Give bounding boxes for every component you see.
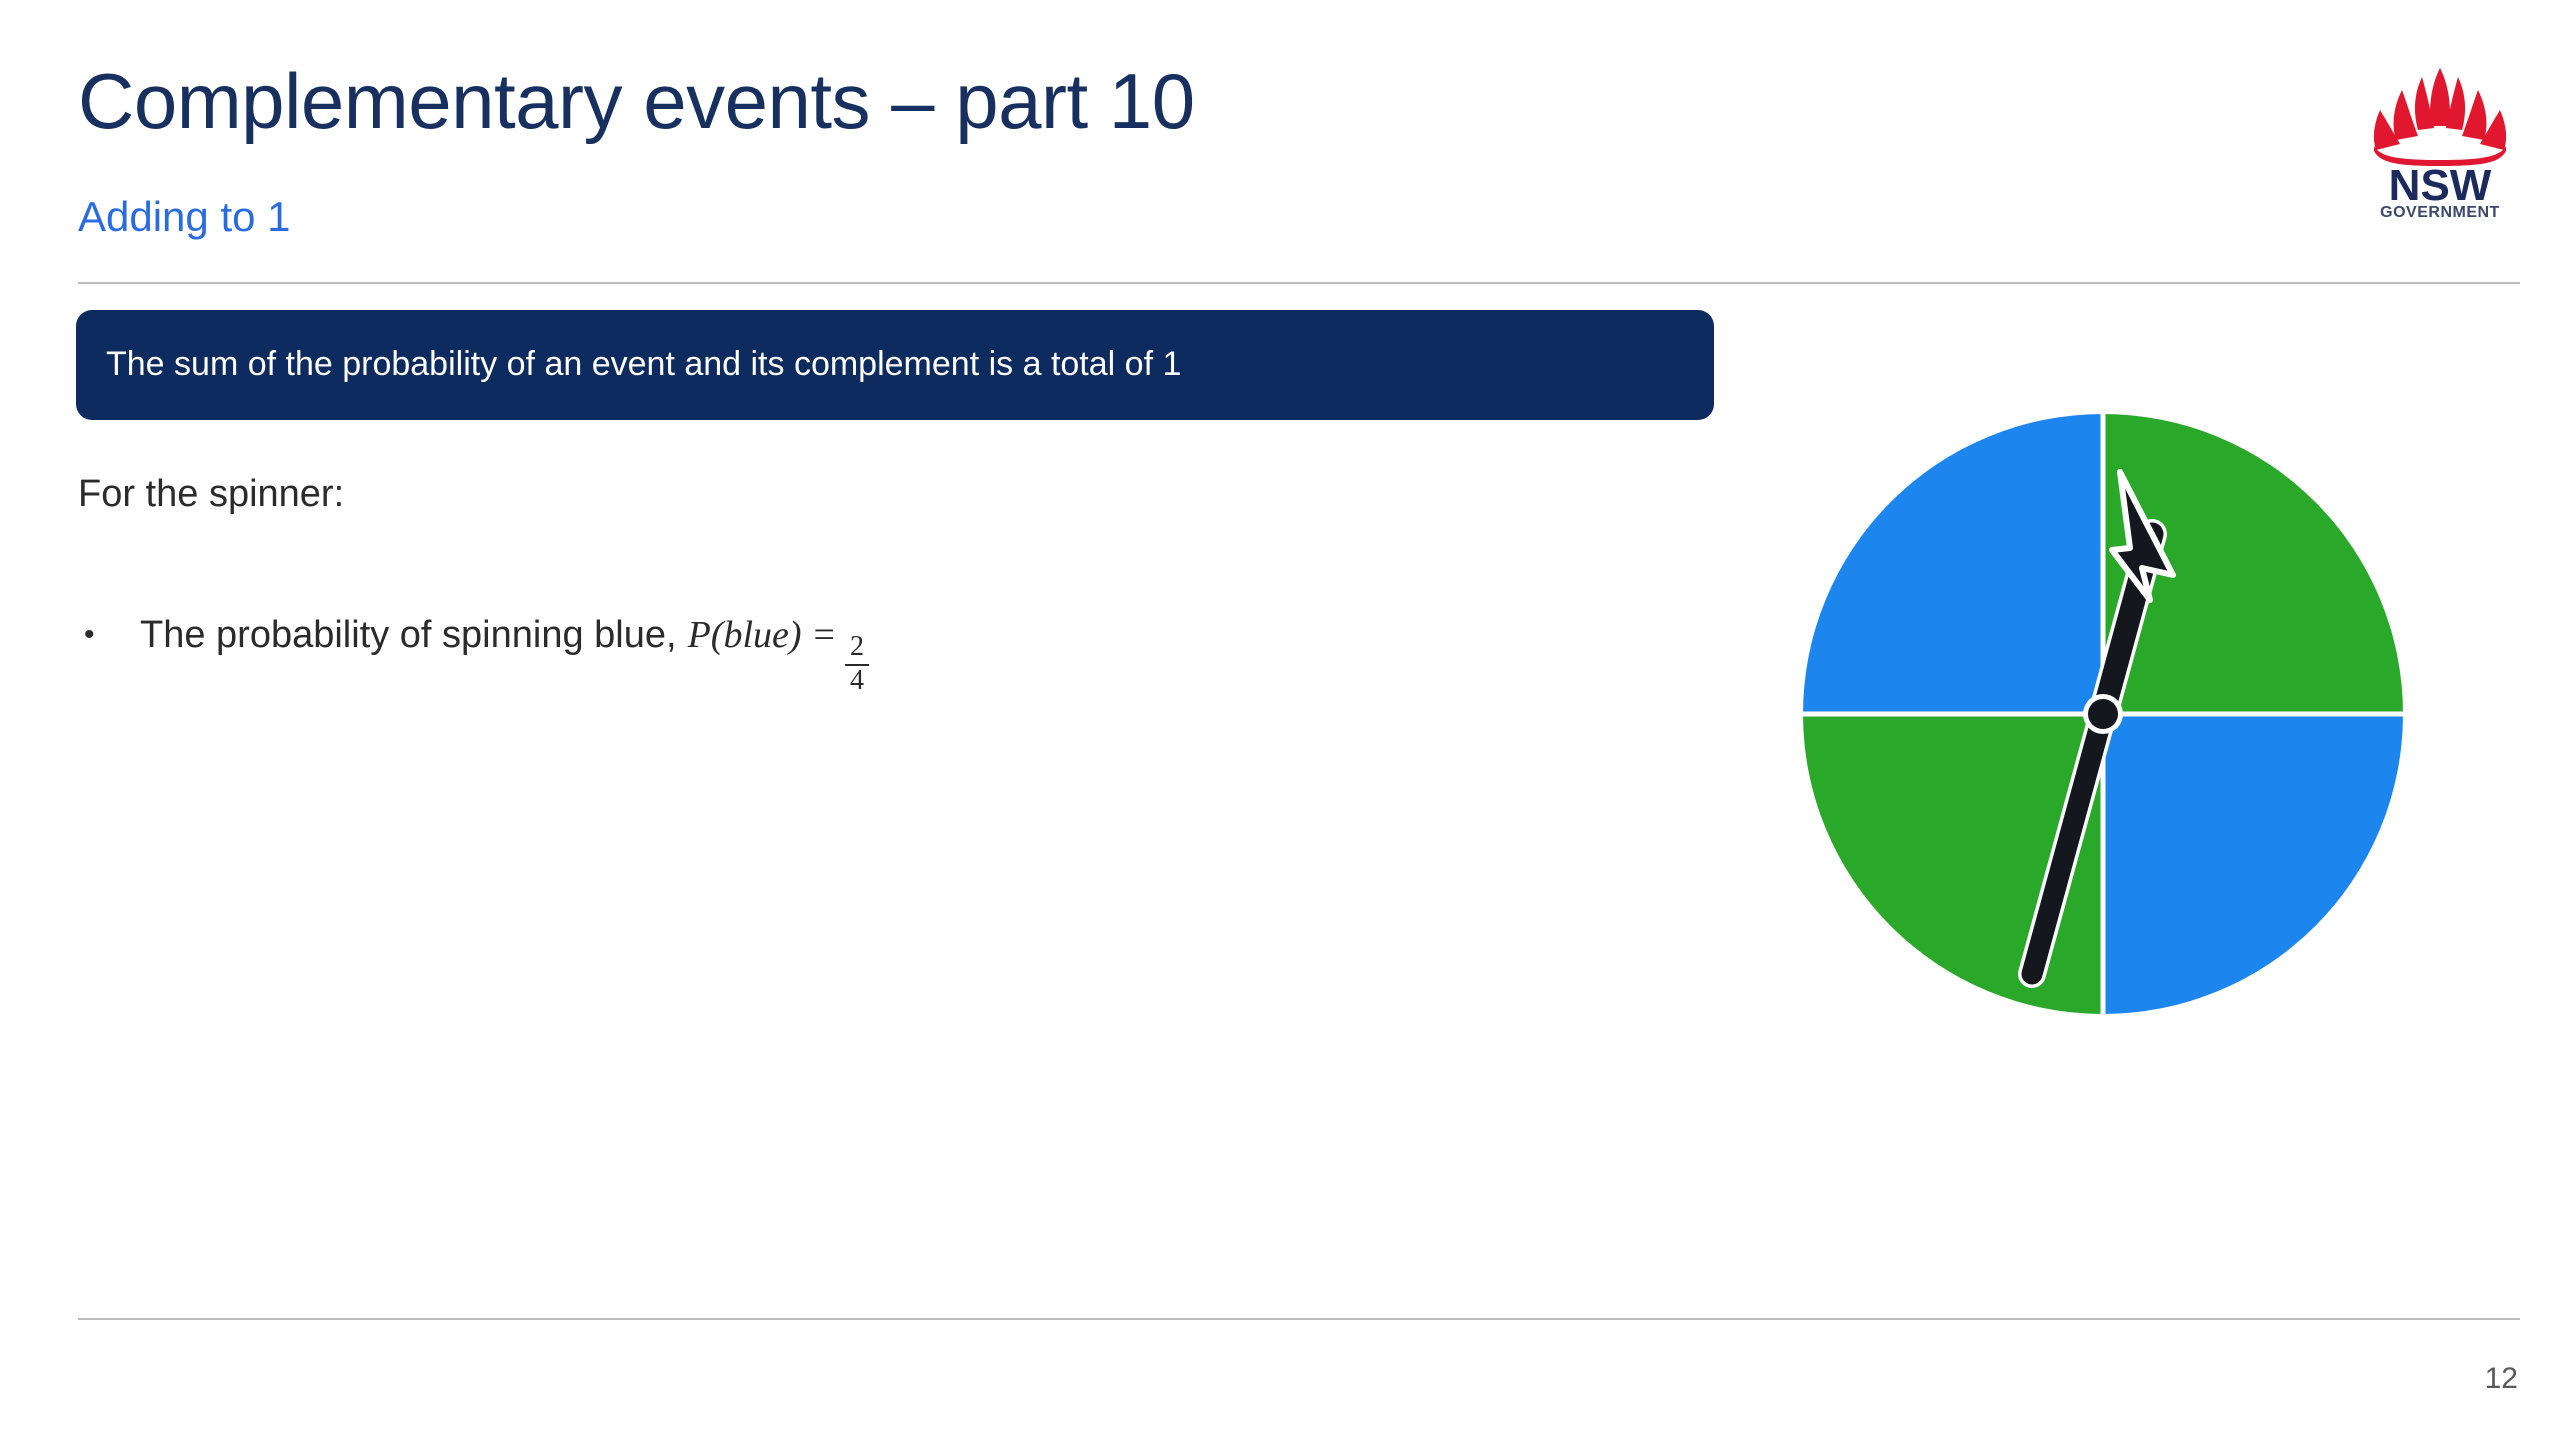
bullet-marker-icon: • — [78, 612, 140, 659]
list-item-label: The probability of spinning blue, — [140, 612, 677, 660]
logo-wordmark-text: NSW — [2389, 161, 2492, 210]
math-fraction: 2 4 — [845, 633, 869, 695]
four-segment-spinner — [1798, 412, 2408, 1017]
logo-tagline-text: GOVERNMENT — [2380, 204, 2500, 220]
page-subtitle: Adding to 1 — [78, 196, 291, 238]
bullet-list: • The probability of spinning blue, P(bl… — [78, 612, 1578, 687]
nsw-wordmark: NSW GOVERNMENT — [2380, 161, 2500, 220]
list-item-content: The probability of spinning blue, P(blue… — [140, 612, 869, 687]
callout-banner: The sum of the probability of an event a… — [76, 310, 1714, 420]
pivot-hub — [2088, 699, 2118, 729]
slide-canvas: Complementary events – part 10 Adding to… — [0, 0, 2560, 1440]
math-function-expression: P(blue) — [688, 612, 802, 660]
waratah-flower-icon — [2374, 68, 2506, 166]
math-equals-operator: = — [814, 612, 835, 660]
spinner-segment-bottom-right — [2103, 714, 2403, 1014]
spinner-segment-top-left — [1803, 414, 2103, 714]
page-number: 12 — [2485, 1362, 2518, 1396]
fraction-numerator: 2 — [847, 633, 867, 662]
page-title: Complementary events – part 10 — [78, 62, 2258, 140]
callout-banner-text: The sum of the probability of an event a… — [106, 345, 1181, 384]
header-divider — [78, 282, 2520, 284]
fraction-denominator: 4 — [847, 667, 867, 696]
footer-divider — [78, 1318, 2520, 1320]
intro-text: For the spinner: — [78, 472, 344, 518]
nsw-government-logo: NSW GOVERNMENT — [2360, 50, 2520, 220]
list-item: • The probability of spinning blue, P(bl… — [78, 612, 1578, 687]
